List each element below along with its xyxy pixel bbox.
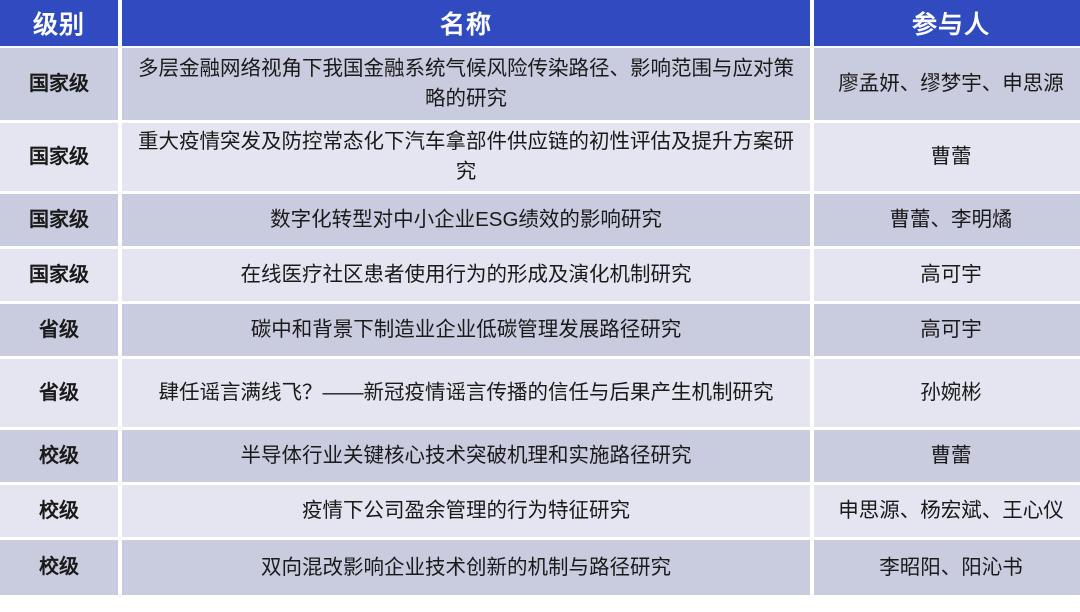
cell-project-name: 双向混改影响企业技术创新的机制与路径研究 (122, 540, 810, 595)
table-row: 省级碳中和背景下制造业企业低碳管理发展路径研究高可宇 (0, 304, 1080, 359)
cell-participants: 廖孟妍、缪梦宇、申思源 (814, 48, 1080, 120)
cell-project-name: 多层金融网络视角下我国金融系统气候风险传染路径、影响范围与应对策略的研究 (122, 48, 810, 120)
cell-participants: 申思源、杨宏斌、王心仪 (814, 485, 1080, 537)
table-row: 省级肆任谣言满线飞？——新冠疫情谣言传播的信任与后果产生机制研究孙婉彬 (0, 359, 1080, 430)
table-row: 国家级在线医疗社区患者使用行为的形成及演化机制研究高可宇 (0, 249, 1080, 304)
column-header-name: 名称 (122, 0, 810, 46)
cell-level: 校级 (0, 540, 118, 595)
cell-project-name: 重大疫情突发及防控常态化下汽车拿部件供应链的初性评估及提升方案研究 (122, 123, 810, 191)
cell-participants: 曹蕾 (814, 430, 1080, 482)
research-projects-table: 级别 名称 参与人 国家级多层金融网络视角下我国金融系统气候风险传染路径、影响范… (0, 0, 1080, 612)
cell-level: 校级 (0, 485, 118, 537)
cell-level: 国家级 (0, 249, 118, 301)
table-row: 校级双向混改影响企业技术创新的机制与路径研究李昭阳、阳沁书 (0, 540, 1080, 595)
cell-level: 国家级 (0, 123, 118, 191)
cell-participants: 李昭阳、阳沁书 (814, 540, 1080, 595)
cell-participants: 曹蕾、李明燏 (814, 194, 1080, 246)
cell-participants: 高可宇 (814, 249, 1080, 301)
table-body: 国家级多层金融网络视角下我国金融系统气候风险传染路径、影响范围与应对策略的研究廖… (0, 48, 1080, 612)
cell-project-name: 半导体行业关键核心技术突破机理和实施路径研究 (122, 430, 810, 482)
table-row: 国家级数字化转型对中小企业ESG绩效的影响研究曹蕾、李明燏 (0, 194, 1080, 249)
cell-project-name: 疫情下公司盈余管理的行为特征研究 (122, 485, 810, 537)
column-header-level: 级别 (0, 0, 118, 46)
table-row: 国家级多层金融网络视角下我国金融系统气候风险传染路径、影响范围与应对策略的研究廖… (0, 48, 1080, 123)
cell-participants: 曹蕾 (814, 123, 1080, 191)
cell-project-name: 在线医疗社区患者使用行为的形成及演化机制研究 (122, 249, 810, 301)
cell-level: 国家级 (0, 48, 118, 120)
table-row: 国家级重大疫情突发及防控常态化下汽车拿部件供应链的初性评估及提升方案研究曹蕾 (0, 123, 1080, 194)
cell-participants: 高可宇 (814, 304, 1080, 356)
table-header-row: 级别 名称 参与人 (0, 0, 1080, 48)
column-header-people: 参与人 (814, 0, 1080, 46)
cell-level: 省级 (0, 359, 118, 427)
cell-project-name: 肆任谣言满线飞？——新冠疫情谣言传播的信任与后果产生机制研究 (122, 359, 810, 427)
cell-project-name: 数字化转型对中小企业ESG绩效的影响研究 (122, 194, 810, 246)
cell-level: 国家级 (0, 194, 118, 246)
cell-level: 省级 (0, 304, 118, 356)
table-row: 校级疫情下公司盈余管理的行为特征研究申思源、杨宏斌、王心仪 (0, 485, 1080, 540)
table-row: 校级半导体行业关键核心技术突破机理和实施路径研究曹蕾 (0, 430, 1080, 485)
cell-project-name: 碳中和背景下制造业企业低碳管理发展路径研究 (122, 304, 810, 356)
cell-participants: 孙婉彬 (814, 359, 1080, 427)
cell-level: 校级 (0, 430, 118, 482)
